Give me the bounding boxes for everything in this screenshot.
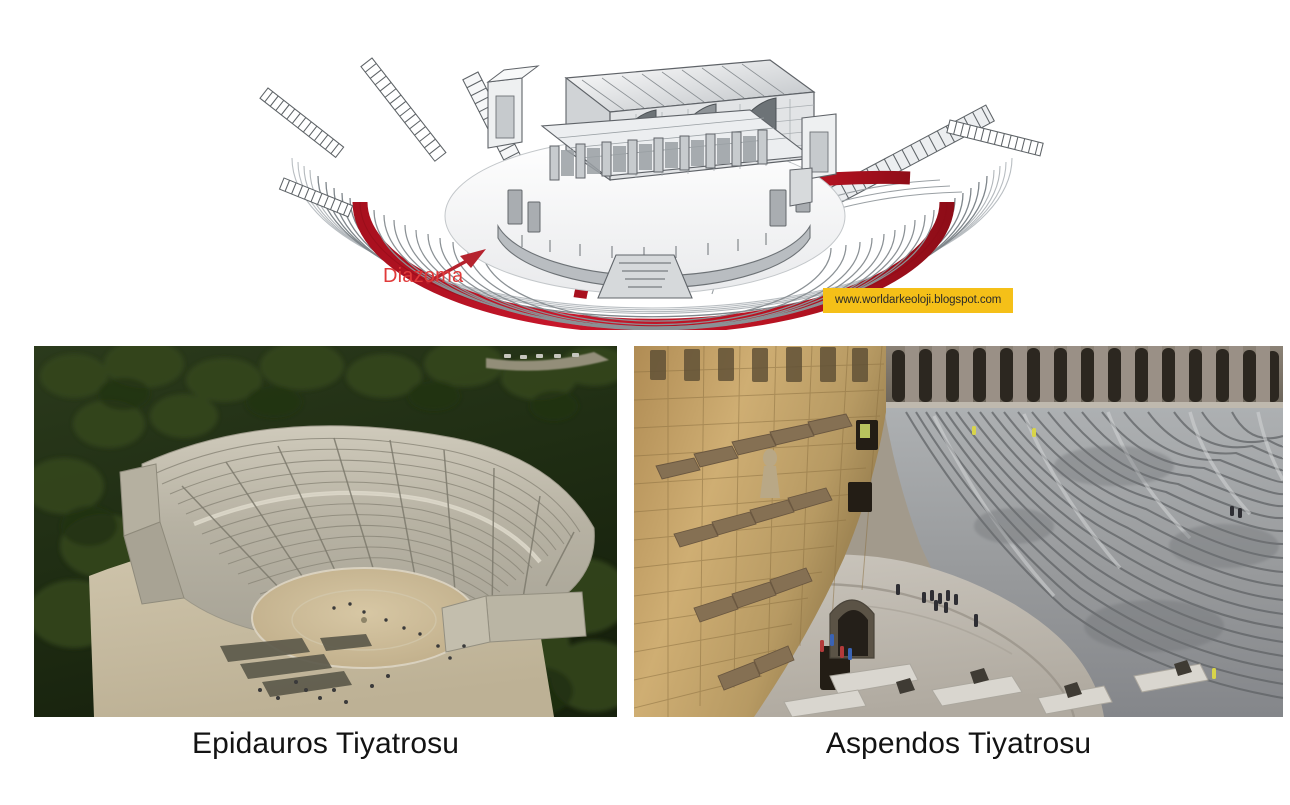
caption-aspendos: Aspendos Tiyatrosu	[634, 727, 1283, 761]
watermark-blogspot-url: www.worldarkeoloji.blogspot.com	[823, 288, 1013, 313]
photo-aspendos	[634, 346, 1283, 717]
theatre-cutaway-drawing	[250, 30, 1050, 330]
theatre-diagram-panel: Diazoma www.worldarkeoloji.blogspot.com	[250, 30, 1050, 330]
aspendos-interior-image	[634, 346, 1283, 717]
photo-epidauros	[34, 346, 617, 717]
caption-epidauros: Epidauros Tiyatrosu	[34, 727, 617, 761]
left-paraskenion	[488, 66, 538, 148]
diazoma-label: Diazoma	[383, 265, 463, 288]
aspendos-gallery-arcade	[884, 346, 1283, 412]
aspendos-scaenae-frons-wall	[634, 346, 886, 717]
aspendos-vaulted-entrance	[830, 600, 874, 658]
epidauros-aerial-image	[34, 346, 617, 717]
